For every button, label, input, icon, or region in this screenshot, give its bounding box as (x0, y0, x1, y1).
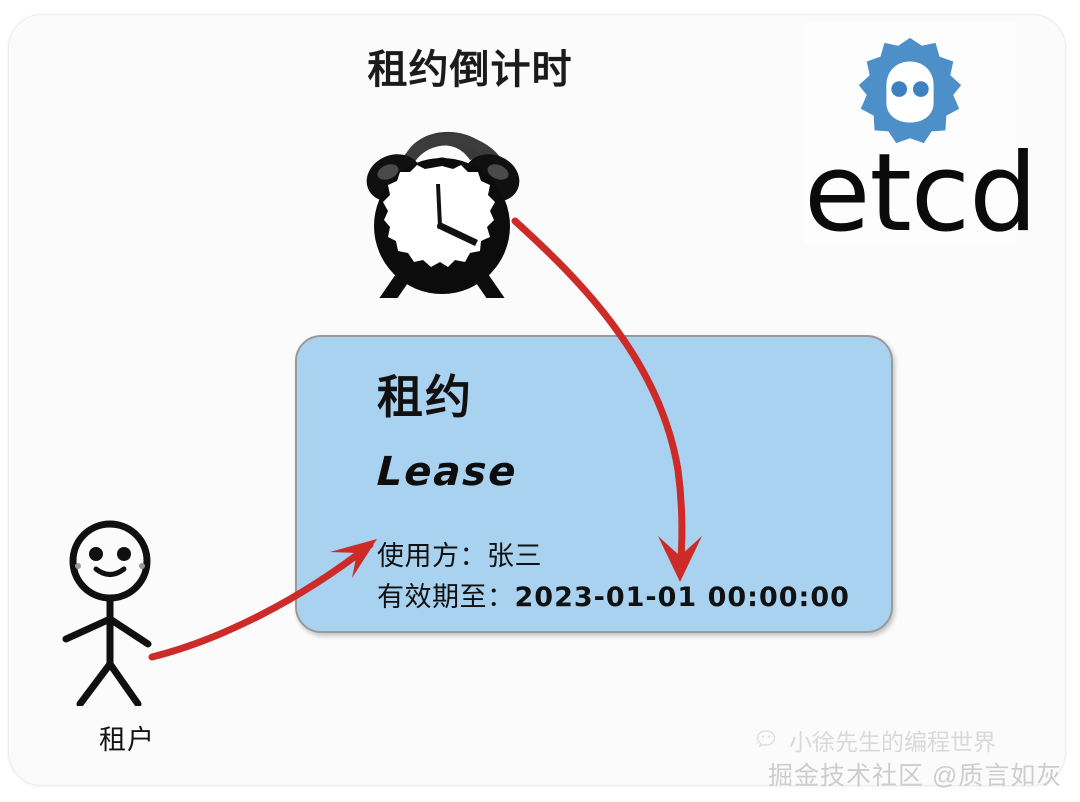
lease-heading-cn: 租约 (377, 361, 473, 427)
etcd-logo: etcd (804, 22, 1016, 244)
etcd-wordmark: etcd (804, 140, 1016, 248)
watermark-top: 小徐先生的编程世界 (756, 723, 996, 757)
watermark-bottom: 掘金技术社区 @质言如灰 (768, 756, 1062, 792)
page-title: 租约倒计时 (340, 48, 600, 92)
stick-figure-icon (52, 516, 202, 706)
lease-expiry-label: 有效期至： (377, 582, 515, 612)
lease-card: 租约 Lease 使用方：张三 有效期至：2023-01-01 00:00:00 (295, 335, 893, 633)
wechat-icon (756, 727, 782, 753)
watermark-top-text: 小徐先生的编程世界 (789, 723, 996, 757)
lease-holder-value: 张三 (487, 541, 542, 571)
lease-row-holder: 使用方：张三 (377, 534, 542, 573)
diagram-canvas: 租约倒计时 (0, 0, 1080, 802)
lease-expiry-value: 2023-01-01 00:00:00 (515, 582, 850, 613)
lease-row-expiry: 有效期至：2023-01-01 00:00:00 (377, 575, 850, 614)
alarm-clock-icon (352, 108, 532, 298)
lease-heading-en: Lease (376, 449, 519, 495)
lease-holder-label: 使用方： (377, 541, 487, 571)
tenant-label: 租户 (52, 718, 202, 757)
